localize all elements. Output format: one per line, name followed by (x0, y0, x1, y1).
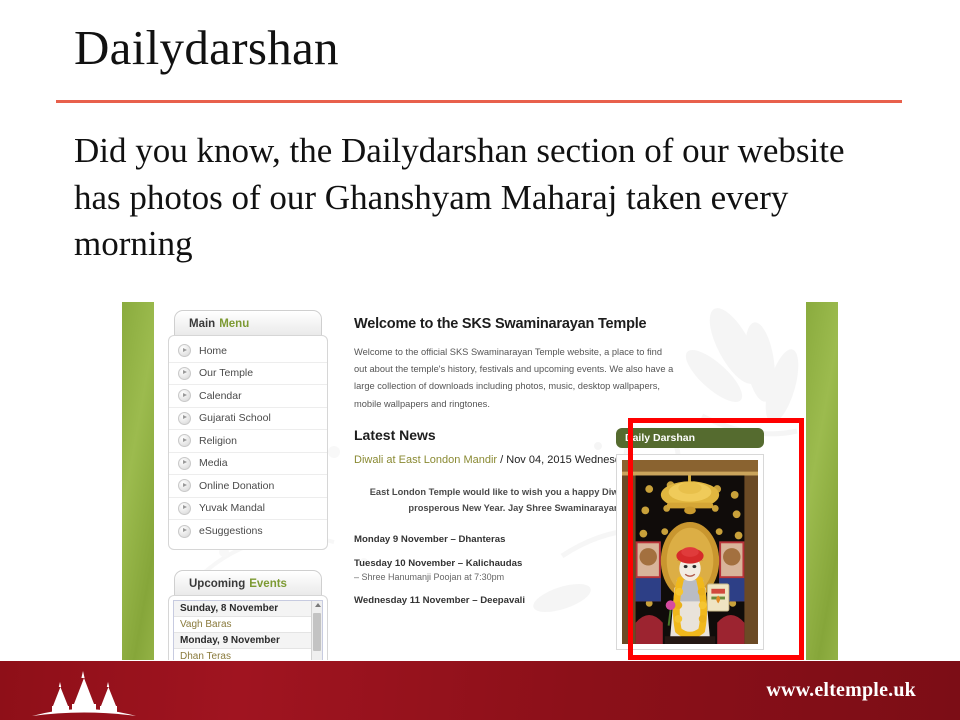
sidebar-item-online-donation[interactable]: Online Donation (169, 475, 327, 498)
sidebar-item-label: eSuggestions (199, 525, 263, 537)
sidebar-item-religion[interactable]: Religion (169, 430, 327, 453)
daily-darshan-highlight-box (628, 418, 804, 660)
decor-band-right (806, 302, 838, 660)
title-divider (56, 100, 902, 103)
bullet-arrow-icon (178, 367, 191, 380)
sidebar-item-label: Our Temple (199, 367, 253, 379)
main-menu-tab-label-bold: Main (189, 318, 215, 330)
news-title-link[interactable]: Diwali at East London Mandir (354, 454, 497, 466)
scroll-up-arrow-icon[interactable] (315, 603, 321, 607)
scrollbar-thumb[interactable] (313, 613, 321, 651)
page-title: Dailydarshan (74, 22, 894, 73)
bullet-arrow-icon (178, 479, 191, 492)
sidebar-item-gujarati-school[interactable]: Gujarati School (169, 408, 327, 431)
sidebar-item-label: Media (199, 457, 228, 469)
bullet-arrow-icon (178, 434, 191, 447)
footer-band: www.eltemple.uk (0, 661, 960, 720)
sidebar-item-label: Online Donation (199, 480, 274, 492)
sidebar-item-esuggestions[interactable]: eSuggestions (169, 520, 327, 543)
bullet-arrow-icon (178, 412, 191, 425)
main-menu-tab[interactable]: Main Menu (174, 310, 322, 336)
slide-root: Dailydarshan Did you know, the Dailydars… (0, 0, 960, 720)
sidebar-item-label: Calendar (199, 390, 242, 402)
event-name-row[interactable]: Vagh Baras (174, 617, 322, 633)
news-date: / Nov 04, 2015 Wednesday (497, 454, 633, 466)
sidebar-item-home[interactable]: Home (169, 340, 327, 363)
sidebar-item-calendar[interactable]: Calendar (169, 385, 327, 408)
main-menu-box: Home Our Temple Calendar Gujarati School… (168, 335, 328, 550)
bullet-arrow-icon (178, 525, 191, 538)
event-date-row: Sunday, 8 November (174, 601, 322, 617)
main-menu-list: Home Our Temple Calendar Gujarati School… (169, 336, 327, 549)
upcoming-events-box: Sunday, 8 November Vagh Baras Monday, 9 … (168, 595, 328, 660)
sidebar-item-media[interactable]: Media (169, 453, 327, 476)
sidebar-item-yuvak-mandal[interactable]: Yuvak Mandal (169, 498, 327, 521)
slide-body-text: Did you know, the Dailydarshan section o… (74, 128, 864, 268)
upcoming-events-tab-label-accent: Events (249, 578, 287, 590)
upcoming-events-widget: Upcoming Events Sunday, 8 November Vagh … (168, 570, 328, 660)
main-menu-tab-label-accent: Menu (219, 318, 249, 330)
sidebar-item-our-temple[interactable]: Our Temple (169, 363, 327, 386)
bullet-arrow-icon (178, 457, 191, 470)
sidebar-item-label: Religion (199, 435, 237, 447)
event-name-row[interactable]: Dhan Teras (174, 649, 322, 660)
events-scrollbar[interactable] (311, 601, 322, 660)
bullet-arrow-icon (178, 389, 191, 402)
welcome-heading: Welcome to the SKS Swaminarayan Temple (354, 316, 674, 332)
bullet-arrow-icon (178, 344, 191, 357)
decor-band-left (122, 302, 154, 660)
sidebar-item-label: Home (199, 345, 227, 357)
sidebar-item-label: Gujarati School (199, 412, 271, 424)
main-menu-widget: Main Menu Home Our Temple Calendar Gujar… (168, 310, 328, 550)
upcoming-events-tab-label-bold: Upcoming (189, 578, 245, 590)
footer-url[interactable]: www.eltemple.uk (766, 679, 916, 702)
sidebar-item-label: Yuvak Mandal (199, 502, 265, 514)
temple-shikhar-logo-icon (28, 669, 140, 717)
upcoming-events-scroll-area: Sunday, 8 November Vagh Baras Monday, 9 … (173, 600, 323, 660)
welcome-paragraph: Welcome to the official SKS Swaminarayan… (354, 344, 674, 413)
upcoming-events-tab[interactable]: Upcoming Events (174, 570, 322, 596)
event-date-row: Monday, 9 November (174, 633, 322, 649)
bullet-arrow-icon (178, 502, 191, 515)
